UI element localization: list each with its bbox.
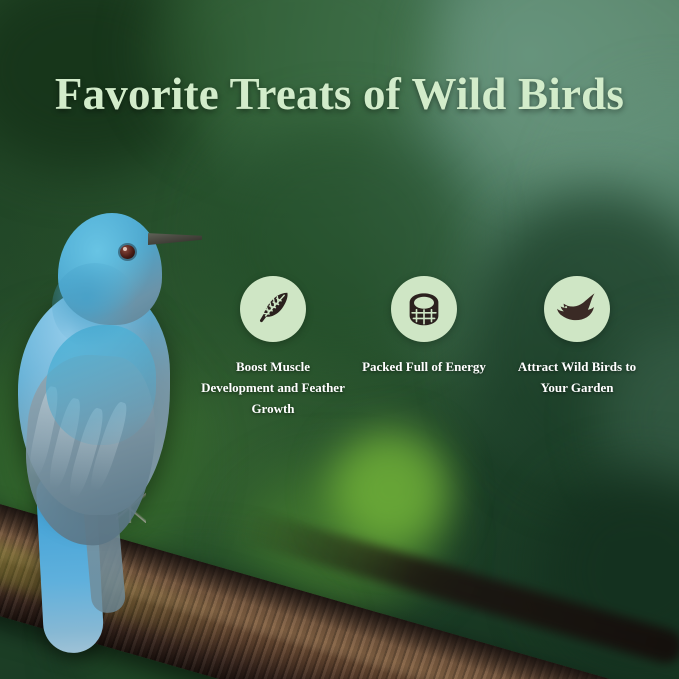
- feature-item-energy: Packed Full of Energy: [351, 276, 497, 377]
- bird-photo-subject: [0, 205, 230, 625]
- feature-item-attract-birds: Attract Wild Birds to Your Garden: [504, 276, 650, 398]
- feather-icon: [253, 289, 293, 329]
- feature-item-boost-muscle: Boost Muscle Development and Feather Gro…: [200, 276, 346, 419]
- bird-eye-glint: [123, 247, 127, 251]
- feature-icon-badge: [391, 276, 457, 342]
- feature-label: Boost Muscle Development and Feather Gro…: [198, 356, 348, 419]
- feature-list: Boost Muscle Development and Feather Gro…: [200, 276, 650, 419]
- feature-icon-badge: [240, 276, 306, 342]
- feature-icon-badge: [544, 276, 610, 342]
- feature-label: Attract Wild Birds to Your Garden: [507, 356, 647, 398]
- feature-label: Packed Full of Energy: [344, 356, 504, 377]
- flying-bird-icon: [557, 289, 597, 329]
- product-banner: Favorite Treats of Wild Birds: [0, 0, 679, 679]
- suet-fat-ball-icon: [404, 289, 444, 329]
- bird-nape: [52, 263, 138, 349]
- page-title: Favorite Treats of Wild Birds: [0, 68, 679, 120]
